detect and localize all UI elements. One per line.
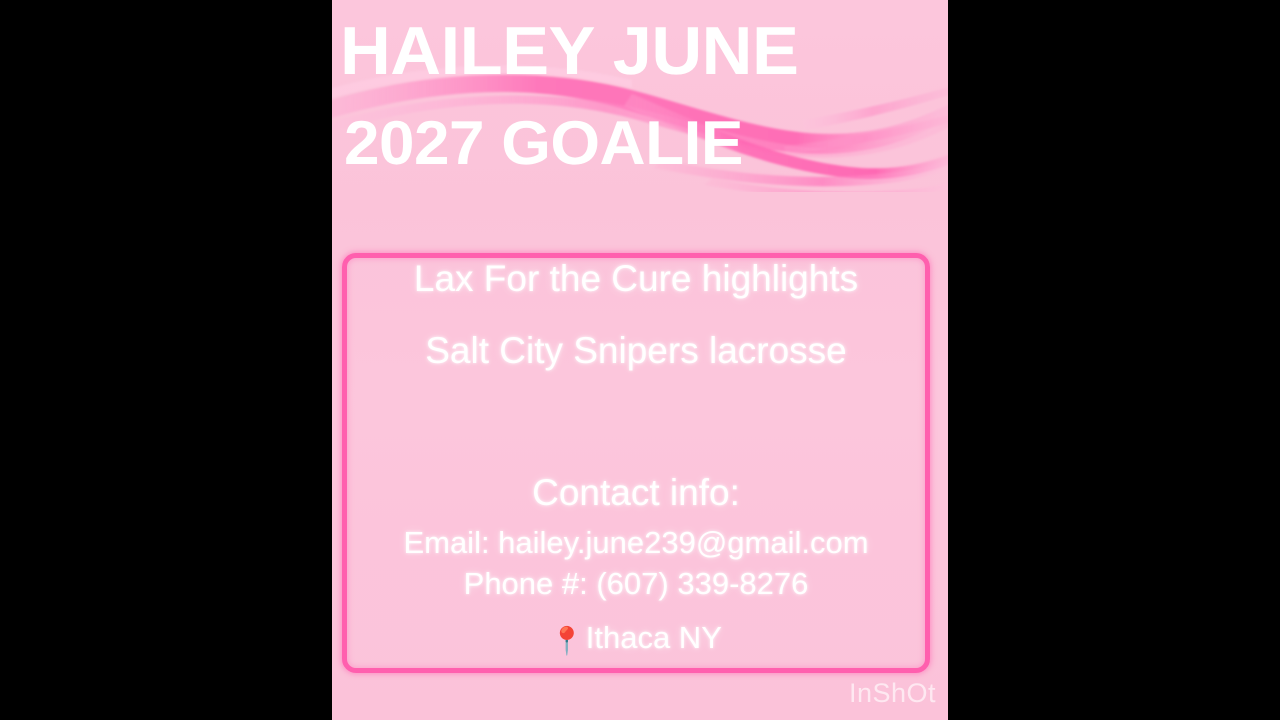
contact-info-heading: Contact info: [342, 472, 930, 514]
contact-email[interactable]: Email: hailey.june239@gmail.com [342, 525, 930, 561]
page-title-line-2: 2027 GOALIE [344, 113, 743, 175]
contact-phone[interactable]: Phone #: (607) 339-8276 [342, 566, 930, 602]
inshot-watermark: InShOt [849, 678, 936, 709]
headline-salt-city-snipers: Salt City Snipers lacrosse [342, 330, 930, 372]
screenshot-canvas: HAILEY JUNE 2027 GOALIE Lax For the Cure… [0, 0, 1280, 720]
page-title-line-1: HAILEY JUNE [340, 17, 798, 85]
info-box [342, 253, 930, 673]
location-pin-icon: 📍 [550, 628, 584, 655]
contact-location-row: 📍Ithaca NY [342, 620, 930, 656]
contact-location-label: Ithaca NY [586, 620, 722, 655]
headline-lax-for-the-cure: Lax For the Cure highlights [342, 258, 930, 300]
